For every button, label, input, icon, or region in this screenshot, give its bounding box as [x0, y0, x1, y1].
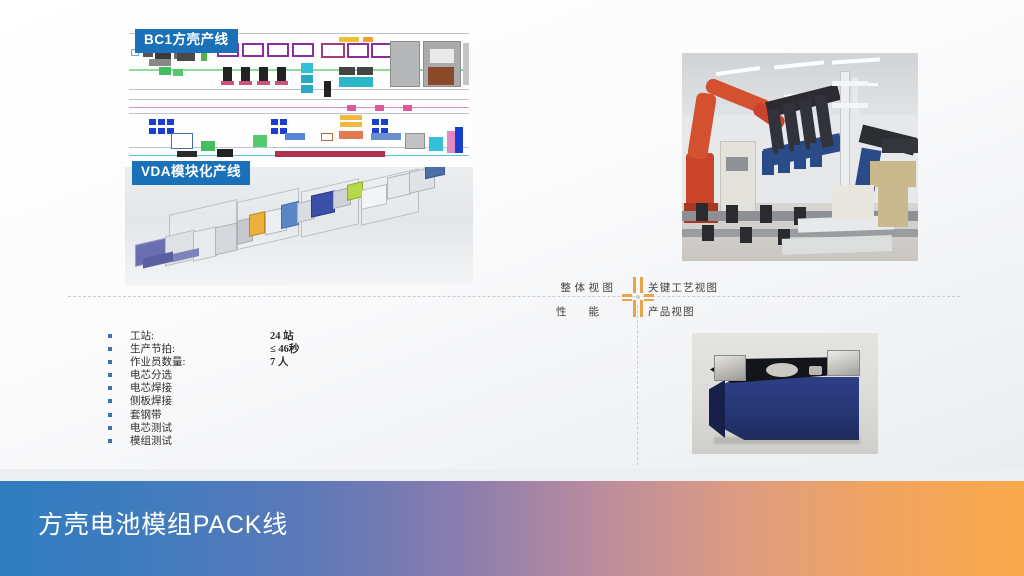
prismatic-battery-cell-photo[interactable]: [692, 333, 878, 454]
label-overall-view: 整体视图: [540, 280, 639, 295]
bullet-icon: [108, 439, 112, 443]
list-item: 作业员数量: 7 人: [108, 354, 528, 367]
image-label-bc1: BC1方壳产线: [135, 29, 238, 53]
label-performance: 性能: [540, 304, 639, 319]
slide-canvas: BC1方壳产线 VDA模块化产线: [0, 0, 1024, 576]
spec-value: 7 人: [270, 354, 288, 369]
list-item: 工站: 24 站: [108, 328, 528, 341]
quadrant-label-row-top: 整体视图 关键工艺视图: [540, 277, 780, 297]
list-item: 套钢带: [108, 407, 528, 420]
banner-spacer: [0, 469, 1024, 481]
page-title: 方壳电池模组PACK线: [38, 505, 288, 541]
bullet-icon: [108, 386, 112, 390]
list-item: 电芯分选: [108, 367, 528, 380]
list-item: 模组测试: [108, 433, 528, 446]
quadrant-label-row-bottom: 性能 产品视图: [540, 301, 780, 321]
production-line-layout-composite[interactable]: BC1方壳产线 VDA模块化产线: [125, 15, 473, 285]
bullet-icon: [108, 373, 112, 377]
vertical-divider: [637, 305, 638, 465]
list-item: 侧板焊接: [108, 393, 528, 406]
bullet-icon: [108, 347, 112, 351]
title-banner: 方壳电池模组PACK线: [0, 481, 1024, 576]
spec-list: 工站: 24 站 生产节拍: ≤ 46秒 作业员数量: 7 人 电芯分选 电芯焊…: [108, 328, 528, 446]
spec-label: 模组测试: [130, 433, 270, 448]
bullet-icon: [108, 399, 112, 403]
robot-welding-station-photo[interactable]: [682, 53, 918, 261]
quadrant-labels: 整体视图 关键工艺视图 性能 产品视图: [540, 277, 780, 323]
bullet-icon: [108, 334, 112, 338]
label-product-view: 产品视图: [639, 304, 780, 319]
list-item: 电芯焊接: [108, 380, 528, 393]
image-label-vda: VDA模块化产线: [132, 161, 250, 185]
bullet-icon: [108, 426, 112, 430]
list-item: 生产节拍: ≤ 46秒: [108, 341, 528, 354]
label-key-process-view: 关键工艺视图: [639, 280, 780, 295]
bullet-icon: [108, 360, 112, 364]
bullet-icon: [108, 413, 112, 417]
list-item: 电芯测试: [108, 420, 528, 433]
horizontal-divider: [68, 296, 960, 297]
